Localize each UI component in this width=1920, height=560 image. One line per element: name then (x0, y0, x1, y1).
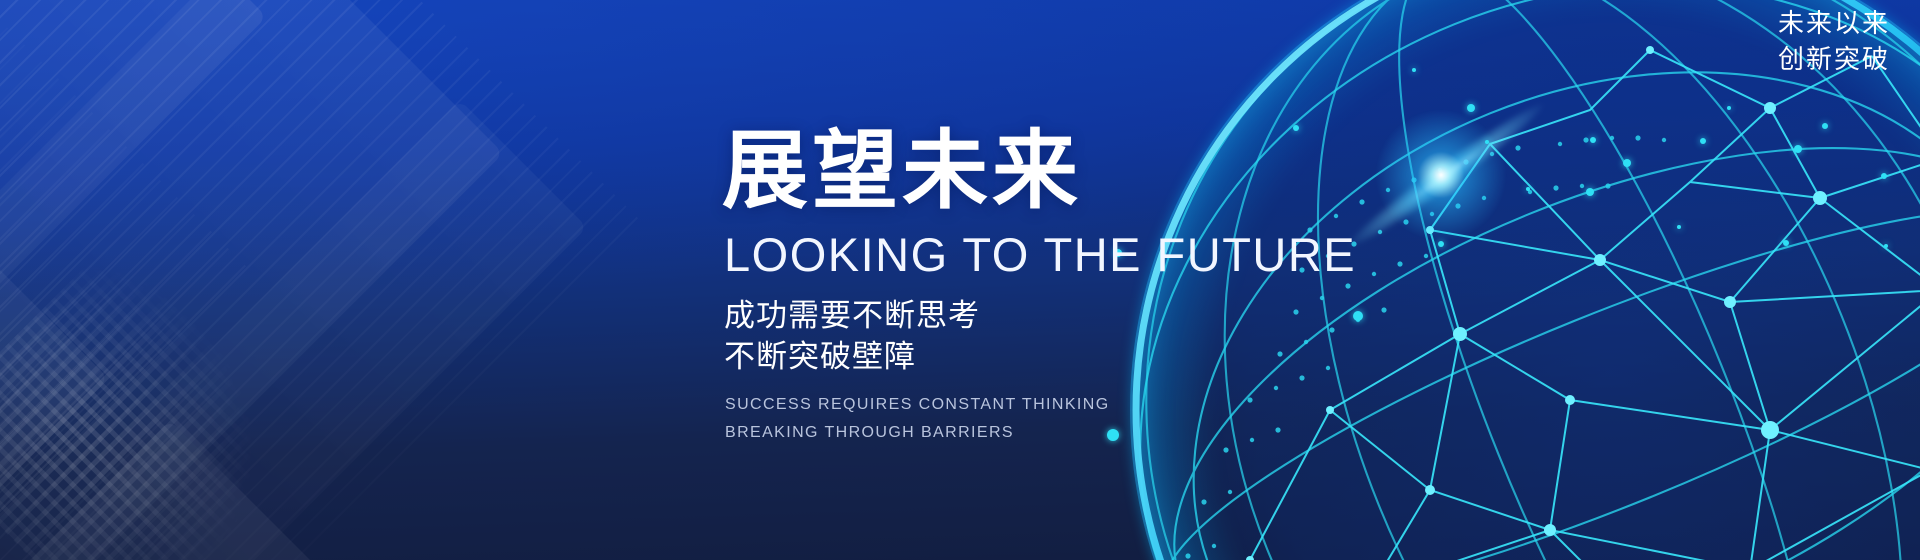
corner-slogan: 未来以来 创新突破 (1778, 6, 1890, 78)
diamond-dot-grid (0, 227, 358, 560)
diagonal-hairlines-secondary (0, 0, 257, 560)
diagonal-hairlines (0, 0, 644, 560)
tagline-en-line1: SUCCESS REQUIRES CONSTANT THINKING (725, 391, 1462, 419)
diagonal-slabs (0, 0, 740, 560)
star-dot (1412, 68, 1416, 72)
tagline-cn-line1: 成功需要不断思考 (724, 296, 1462, 337)
corner-slogan-line2: 创新突破 (1778, 42, 1890, 78)
star-dot (1485, 140, 1489, 144)
page-subtitle-en: LOOKING TO THE FUTURE (724, 230, 1462, 279)
slab-shape (92, 100, 587, 560)
headline-block: 展望未来 LOOKING TO THE FUTURE 成功需要不断思考 不断突破… (722, 126, 1462, 447)
star-dot (1794, 145, 1802, 153)
star-dot (1623, 159, 1631, 167)
star-dot (1727, 106, 1731, 110)
banner-root: 展望未来 LOOKING TO THE FUTURE 成功需要不断思考 不断突破… (0, 0, 1920, 560)
star-dot (1590, 137, 1596, 143)
star-dot (1783, 240, 1789, 246)
star-dot (1822, 123, 1828, 129)
star-dot (1467, 104, 1475, 112)
star-dot (1881, 173, 1887, 179)
star-dot (1884, 244, 1888, 248)
star-dot (1526, 187, 1530, 191)
tagline-cn: 成功需要不断思考 不断突破壁障 (724, 296, 1462, 378)
slab-shape (0, 0, 267, 512)
star-dot (1586, 188, 1594, 196)
slab-shape (0, 420, 382, 560)
tagline-en: SUCCESS REQUIRES CONSTANT THINKING BREAK… (725, 391, 1462, 447)
corner-slogan-line1: 未来以来 (1778, 6, 1890, 42)
slab-shape (0, 230, 108, 560)
star-dot (1677, 225, 1681, 229)
tagline-cn-line2: 不断突破壁障 (724, 337, 1462, 378)
star-dot (1700, 138, 1706, 144)
tagline-en-line2: BREAKING THROUGH BARRIERS (725, 419, 1462, 447)
page-title: 展望未来 (722, 126, 1462, 216)
slab-shape (0, 0, 503, 560)
